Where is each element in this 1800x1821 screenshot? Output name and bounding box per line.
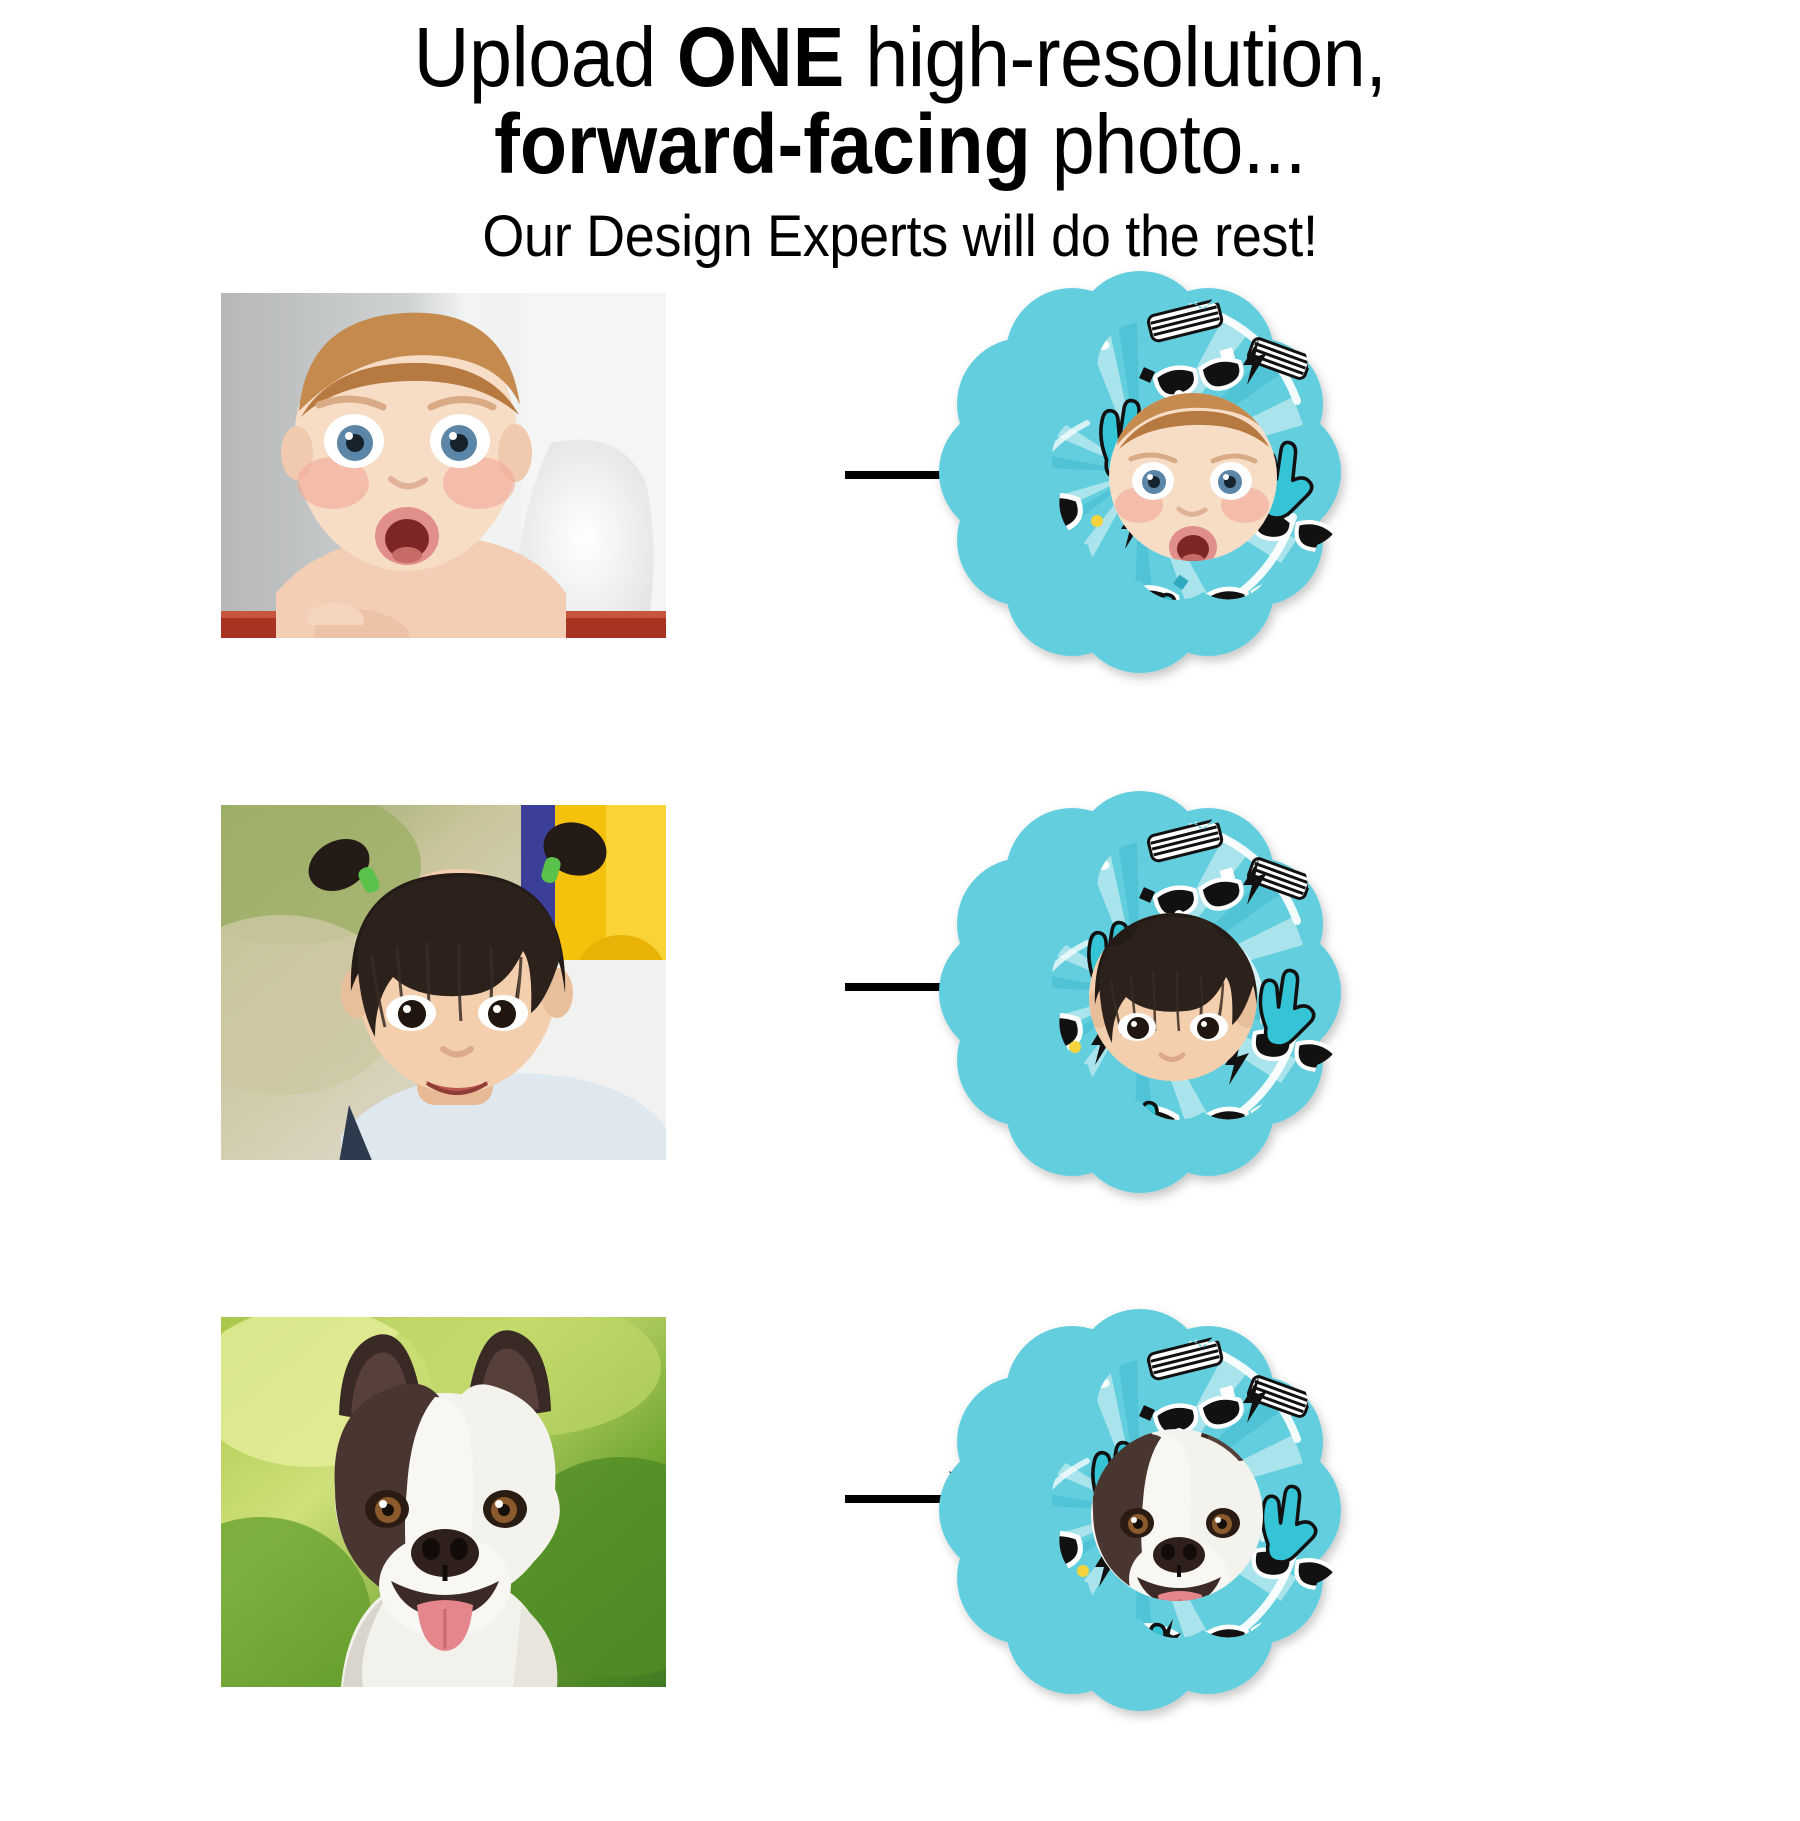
headline-text-post: high-resolution, (844, 10, 1386, 104)
sunglasses-party-plate-dog (925, 1315, 1355, 1700)
headline-emphasis-one: ONE (677, 10, 844, 104)
example-row-baby (0, 285, 1800, 735)
french-bulldog-photo (221, 1317, 666, 1687)
sunglasses-party-plate-baby (925, 277, 1355, 662)
toddler-girl-photo (221, 805, 666, 1160)
headline-emphasis-forward-facing: forward-facing (494, 97, 1031, 191)
header: Upload ONE high-resolution, forward-faci… (0, 0, 1800, 270)
subtitle: Our Design Experts will do the rest! (63, 203, 1737, 270)
headline-text-photo: photo... (1031, 97, 1306, 191)
example-row-dog (0, 1309, 1800, 1759)
examples-list (0, 285, 1800, 1821)
headline-text-pre: Upload (414, 10, 677, 104)
sunglasses-party-plate-girl (925, 797, 1355, 1182)
headline-line-2: forward-facing photo... (72, 101, 1728, 188)
surprised-baby-photo (221, 293, 666, 638)
example-row-girl (0, 797, 1800, 1247)
headline-line-1: Upload ONE high-resolution, (72, 14, 1728, 101)
